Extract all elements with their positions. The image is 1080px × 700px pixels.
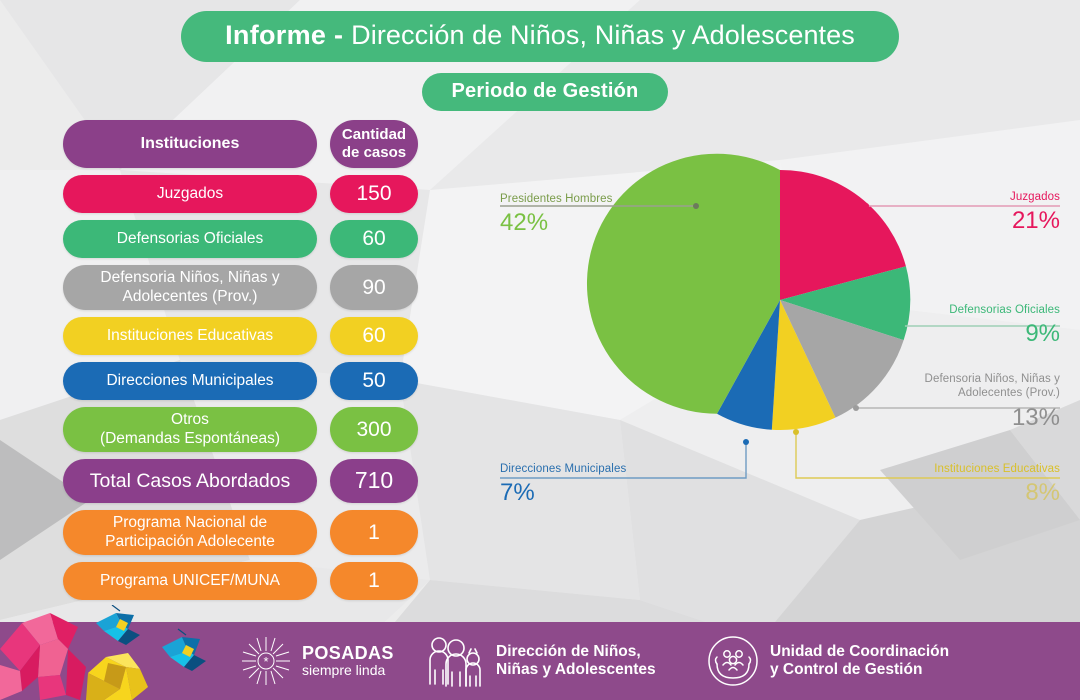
table-row[interactable]: Defensorias Oficiales 60 [63, 220, 423, 258]
report-title-strong: Informe - [225, 20, 351, 50]
hands-children-icon [706, 634, 760, 688]
callout-juzgados-pct: 21% [866, 208, 1060, 234]
row-value-defensoria-nna: 90 [330, 265, 418, 310]
row-label-otros: Otros (Demandas Espontáneas) [63, 407, 317, 452]
yellow-flower-icon [86, 653, 148, 700]
svg-text:*: * [263, 654, 268, 669]
brand-direccion-nna: Dirección de Niños, Niñas y Adolescentes [424, 634, 656, 688]
table-row[interactable]: Direcciones Municipales 50 [63, 362, 423, 400]
callout-instituciones-educativas-pct: 8% [846, 480, 1060, 506]
row-label-otros-line1: Otros [100, 411, 280, 429]
callout-defensoria-nna-name-line2: Adolecentes (Prov.) [846, 386, 1060, 400]
row-value-programa-nacional: 1 [330, 510, 418, 555]
flower-icon: * [240, 635, 292, 687]
header: Informe - Dirección de Niños, Niñas y Ad… [0, 0, 1080, 111]
table-row[interactable]: Programa UNICEF/MUNA 1 [63, 562, 423, 600]
row-label-defensoria-nna-line1: Defensoria Niños, Niñas y [100, 269, 279, 287]
dnna-line2: Niñas y Adolescentes [496, 661, 656, 679]
ucg-line1: Unidad de Coordinación [770, 643, 949, 661]
callout-defensorias-oficiales-name: Defensorias Oficiales [866, 303, 1060, 317]
table-header-row: Instituciones Cantidad de casos [63, 120, 423, 168]
butterfly-icon [96, 605, 140, 645]
table-header-value: Cantidad de casos [330, 120, 418, 168]
institutions-table: Instituciones Cantidad de casos Juzgados… [63, 120, 423, 607]
callout-instituciones-educativas-name: Instituciones Educativas [846, 462, 1060, 476]
callout-juzgados-name: Juzgados [866, 190, 1060, 204]
row-label-defensorias-oficiales: Defensorias Oficiales [63, 220, 317, 258]
table-row[interactable]: Programa Nacional de Participación Adole… [63, 510, 423, 555]
table-header-value-line2: de casos [342, 144, 406, 162]
infographic-root: Informe - Dirección de Niños, Niñas y Ad… [0, 0, 1080, 700]
callout-juzgados: Juzgados 21% [866, 190, 1060, 235]
report-subtitle-banner: Periodo de Gestión [422, 73, 669, 111]
row-value-instituciones-educativas: 60 [330, 317, 418, 355]
row-label-juzgados: Juzgados [63, 175, 317, 213]
callout-direcciones-municipales: Direcciones Municipales 7% [500, 462, 714, 507]
row-label-programa-nacional-line2: Participación Adolecente [105, 533, 275, 551]
row-label-defensoria-nna: Defensoria Niños, Niñas y Adolecentes (P… [63, 265, 317, 310]
row-label-direcciones-municipales: Direcciones Municipales [63, 362, 317, 400]
table-row[interactable]: Instituciones Educativas 60 [63, 317, 423, 355]
table-row[interactable]: Otros (Demandas Espontáneas) 300 [63, 407, 423, 452]
row-label-programa-unicef: Programa UNICEF/MUNA [63, 562, 317, 600]
posadas-line2: siempre linda [302, 663, 394, 679]
brand-posadas: * POSADAS siempre linda [240, 635, 394, 687]
callout-presidentes-hombres-pct: 42% [500, 210, 696, 236]
total-label: Total Casos Abordados [63, 459, 317, 503]
row-value-otros: 300 [330, 407, 418, 452]
family-icon [424, 634, 486, 688]
brand-unidad-coordinacion: Unidad de Coordinación y Control de Gest… [706, 634, 949, 688]
decorative-flowers-butterflies [0, 605, 240, 700]
row-label-instituciones-educativas: Instituciones Educativas [63, 317, 317, 355]
callout-defensoria-nna-pct: 13% [846, 405, 1060, 431]
callout-defensorias-oficiales-pct: 9% [866, 321, 1060, 347]
callout-direcciones-municipales-name: Direcciones Municipales [500, 462, 714, 476]
table-row[interactable]: Defensoria Niños, Niñas y Adolecentes (P… [63, 265, 423, 310]
posadas-line1: POSADAS [302, 643, 394, 664]
callout-instituciones-educativas: Instituciones Educativas 8% [846, 462, 1060, 507]
table-header-label: Instituciones [63, 120, 317, 168]
table-total-row: Total Casos Abordados 710 [63, 459, 423, 503]
dnna-line1: Dirección de Niños, [496, 643, 656, 661]
row-value-programa-unicef: 1 [330, 562, 418, 600]
report-title-rest: Dirección de Niños, Niñas y Adolescentes [351, 20, 855, 50]
row-value-defensorias-oficiales: 60 [330, 220, 418, 258]
pink-flower-icon [0, 613, 86, 700]
table-row[interactable]: Juzgados 150 [63, 175, 423, 213]
callout-presidentes-hombres: Presidentes Hombres 42% [500, 192, 696, 237]
table-header-value-line1: Cantidad [342, 126, 406, 144]
row-value-direcciones-municipales: 50 [330, 362, 418, 400]
callout-defensoria-nna: Defensoria Niños, Niñas y Adolecentes (P… [846, 372, 1060, 431]
callout-defensoria-nna-name-line1: Defensoria Niños, Niñas y [846, 372, 1060, 386]
row-value-juzgados: 150 [330, 175, 418, 213]
row-label-defensoria-nna-line2: Adolecentes (Prov.) [100, 288, 279, 306]
total-value: 710 [330, 459, 418, 503]
ucg-line2: y Control de Gestión [770, 661, 949, 679]
callout-direcciones-municipales-pct: 7% [500, 480, 714, 506]
row-label-programa-nacional-line1: Programa Nacional de [105, 514, 275, 532]
callout-defensorias-oficiales: Defensorias Oficiales 9% [866, 303, 1060, 348]
callout-presidentes-hombres-name: Presidentes Hombres [500, 192, 696, 206]
butterfly-icon [162, 629, 206, 671]
row-label-otros-line2: (Demandas Espontáneas) [100, 430, 280, 448]
report-title-banner: Informe - Dirección de Niños, Niñas y Ad… [181, 11, 899, 62]
row-label-programa-nacional: Programa Nacional de Participación Adole… [63, 510, 317, 555]
